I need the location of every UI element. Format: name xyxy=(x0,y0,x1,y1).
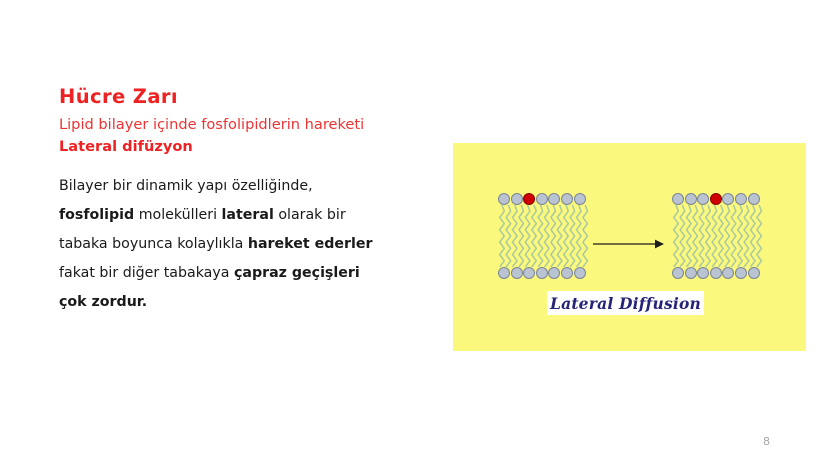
lipid-head xyxy=(672,193,684,205)
diffusion-arrow-icon xyxy=(593,238,665,250)
body-text-run: çapraz geçişleri xyxy=(234,265,360,281)
bilayer-after-tail-region xyxy=(672,205,764,267)
lipid-head xyxy=(561,267,573,279)
lipid-tail xyxy=(532,205,537,267)
lipid-head xyxy=(697,267,709,279)
lipid-head xyxy=(548,267,560,279)
lipid-tail xyxy=(706,205,711,267)
lipid-tail xyxy=(725,205,730,267)
subtitle-emphasis-line: Lateral difüzyon xyxy=(59,136,429,158)
lipid-tail xyxy=(570,205,575,267)
lipid-head xyxy=(748,193,760,205)
lipid-tail xyxy=(712,205,717,267)
lipid-head xyxy=(548,193,560,205)
lipid-tail xyxy=(751,205,756,267)
lipid-tail xyxy=(744,205,749,267)
lipid-head xyxy=(511,267,523,279)
body-text-run: Bilayer bir dinamik yapı özelliğinde, xyxy=(59,178,313,194)
lipid-tail xyxy=(525,205,530,267)
lipid-tail xyxy=(564,205,569,267)
lipid-tail xyxy=(551,205,556,267)
bilayer-after-bottom-head-row xyxy=(672,267,764,279)
bilayer-after-top-head-row xyxy=(672,193,764,205)
lipid-tail xyxy=(545,205,550,267)
lipid-tail xyxy=(680,205,685,267)
page-number: 8 xyxy=(763,435,770,448)
lipid-head-highlighted xyxy=(710,193,722,205)
body-text-run: çok zordur. xyxy=(59,294,147,310)
subtitle-line: Lipid bilayer içinde fosfolipidlerin har… xyxy=(59,115,429,136)
lipid-head-highlighted xyxy=(523,193,535,205)
lipid-tail xyxy=(731,205,736,267)
lipid-tail xyxy=(500,205,505,267)
lipid-tail xyxy=(693,205,698,267)
lipid-head xyxy=(561,193,573,205)
lipid-head xyxy=(536,267,548,279)
body-line-1: Bilayer bir dinamik yapı özelliğinde, xyxy=(59,172,429,201)
body-line-5: çok zordur. xyxy=(59,288,429,317)
lipid-tail xyxy=(577,205,582,267)
bilayer-after xyxy=(672,193,764,279)
lipid-head xyxy=(735,267,747,279)
body-text-run: fakat bir diğer tabakaya xyxy=(59,265,234,281)
lipid-head xyxy=(710,267,722,279)
bilayer-before-tail-region xyxy=(498,205,590,267)
lipid-tail xyxy=(538,205,543,267)
lipid-head xyxy=(574,267,586,279)
lipid-head xyxy=(735,193,747,205)
body-text-run: hareket ederler xyxy=(248,236,373,252)
lipid-head xyxy=(523,267,535,279)
lipid-tail xyxy=(757,205,762,267)
bilayer-before-top-head-row xyxy=(498,193,590,205)
text-content-block: Hücre Zarı Lipid bilayer içinde fosfolip… xyxy=(59,84,429,317)
figure-caption-box: Lateral Diffusion xyxy=(547,291,704,315)
lipid-tail xyxy=(674,205,679,267)
lipid-head xyxy=(748,267,760,279)
lipid-tail xyxy=(519,205,524,267)
slide-canvas: Hücre Zarı Lipid bilayer içinde fosfolip… xyxy=(0,0,828,466)
lateral-diffusion-figure: Lateral Diffusion xyxy=(453,143,806,351)
lipid-head xyxy=(498,267,510,279)
body-text-run: olarak bir xyxy=(274,207,346,223)
lipid-tail xyxy=(513,205,518,267)
body-text-run: molekülleri xyxy=(134,207,221,223)
lipid-head xyxy=(685,193,697,205)
lipid-head xyxy=(574,193,586,205)
lipid-head xyxy=(722,267,734,279)
body-text-run: tabaka boyunca kolaylıkla xyxy=(59,236,248,252)
lipid-tail xyxy=(719,205,724,267)
lipid-head xyxy=(722,193,734,205)
body-line-3: tabaka boyunca kolaylıkla hareket ederle… xyxy=(59,230,429,259)
lipid-tail xyxy=(506,205,511,267)
bilayer-before-bottom-head-row xyxy=(498,267,590,279)
figure-caption-text: Lateral Diffusion xyxy=(550,294,701,313)
bilayer-before xyxy=(498,193,590,279)
lipid-head xyxy=(511,193,523,205)
lipid-tail xyxy=(738,205,743,267)
body-line-2: fosfolipid molekülleri lateral olarak bi… xyxy=(59,201,429,230)
lipid-head xyxy=(498,193,510,205)
lipid-head xyxy=(697,193,709,205)
body-line-4: fakat bir diğer tabakaya çapraz geçişler… xyxy=(59,259,429,288)
lipid-head xyxy=(685,267,697,279)
lipid-head xyxy=(672,267,684,279)
lipid-tail xyxy=(557,205,562,267)
lipid-head xyxy=(536,193,548,205)
lipid-tail xyxy=(583,205,588,267)
body-text-run: lateral xyxy=(222,207,274,223)
lipid-tail xyxy=(699,205,704,267)
body-text-run: fosfolipid xyxy=(59,207,134,223)
page-title: Hücre Zarı xyxy=(59,84,429,110)
body-paragraph: Bilayer bir dinamik yapı özelliğinde,fos… xyxy=(59,172,429,317)
lipid-tail xyxy=(687,205,692,267)
